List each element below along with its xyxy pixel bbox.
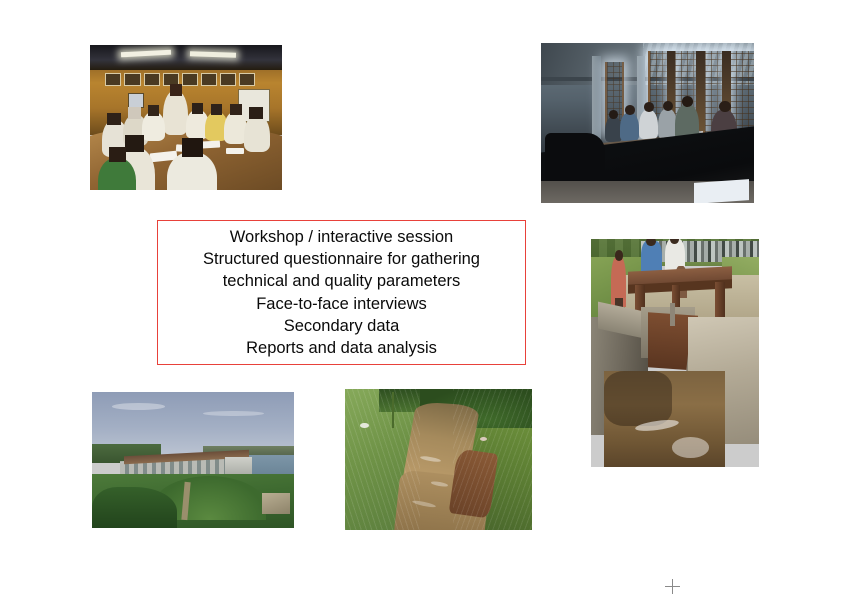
ceiling (90, 45, 282, 70)
standing-boy-head (615, 250, 623, 260)
grass-texture-left (345, 389, 420, 530)
water-reflection (672, 437, 709, 458)
seated-person-head (148, 105, 160, 116)
foreground-person (98, 158, 136, 190)
slide-canvas: Workshop / interactive session Structure… (0, 0, 850, 599)
methodology-line: Face-to-face interviews (256, 293, 427, 315)
seated-attendee (620, 113, 639, 140)
crosshair-vertical-bar (672, 579, 673, 594)
seated-attendee-head (625, 105, 635, 115)
dark-trees (92, 487, 177, 528)
seated-person-head (249, 107, 262, 119)
plant-stalk (392, 392, 394, 429)
table-papers (226, 148, 243, 154)
methodology-line: technical and quality parameters (223, 270, 461, 292)
table-papers (201, 140, 221, 148)
foreground-person (167, 152, 217, 190)
registration-crosshair-icon (665, 579, 680, 594)
foreground-person-head (109, 147, 126, 163)
methodology-line: Secondary data (284, 315, 400, 337)
wall-poster (128, 93, 143, 108)
standing-man (641, 241, 661, 273)
gate-lifting-stem (670, 303, 675, 326)
photo-meeting-room (90, 45, 282, 190)
cloud (112, 403, 165, 410)
standing-presenter-head (170, 84, 182, 96)
photo-hall-meeting (541, 43, 754, 203)
seated-person-head (107, 113, 120, 125)
methodology-text-box: Workshop / interactive session Structure… (157, 220, 526, 365)
photo-canal-sluice-gate (591, 239, 759, 467)
hall-scene (541, 43, 754, 203)
photo-irrigation-canal (345, 389, 532, 530)
sluice-scene (591, 239, 759, 467)
foreground-person-head (125, 135, 144, 152)
canal-scene (345, 389, 532, 530)
grass-texture-right (453, 389, 532, 530)
seated-attendee-head (719, 101, 731, 112)
seated-person-head (192, 103, 204, 114)
seated-attendee (639, 110, 658, 139)
chair-block (545, 133, 605, 187)
methodology-line: Workshop / interactive session (230, 226, 453, 248)
seated-person-head (230, 104, 242, 115)
meeting-room-scene (90, 45, 282, 190)
seated-attendee-head (609, 110, 618, 119)
rock-outcrop (262, 493, 290, 515)
seated-person-head (128, 107, 140, 119)
methodology-line: Structured questionnaire for gathering (203, 248, 480, 270)
standing-man-head (646, 239, 655, 246)
seated-attendee-head (682, 96, 694, 107)
seated-person (244, 115, 271, 153)
water-shadow (604, 371, 671, 426)
seated-attendee-head (644, 102, 654, 112)
photo-dam-barrage (92, 392, 294, 528)
foreground-person-head (182, 138, 203, 157)
standing-presenter (163, 91, 188, 135)
seated-attendee-head (663, 101, 673, 111)
foreground-paper (694, 179, 749, 203)
dam-scene (92, 392, 294, 528)
methodology-line: Reports and data analysis (246, 337, 437, 359)
seated-person-head (211, 104, 223, 115)
